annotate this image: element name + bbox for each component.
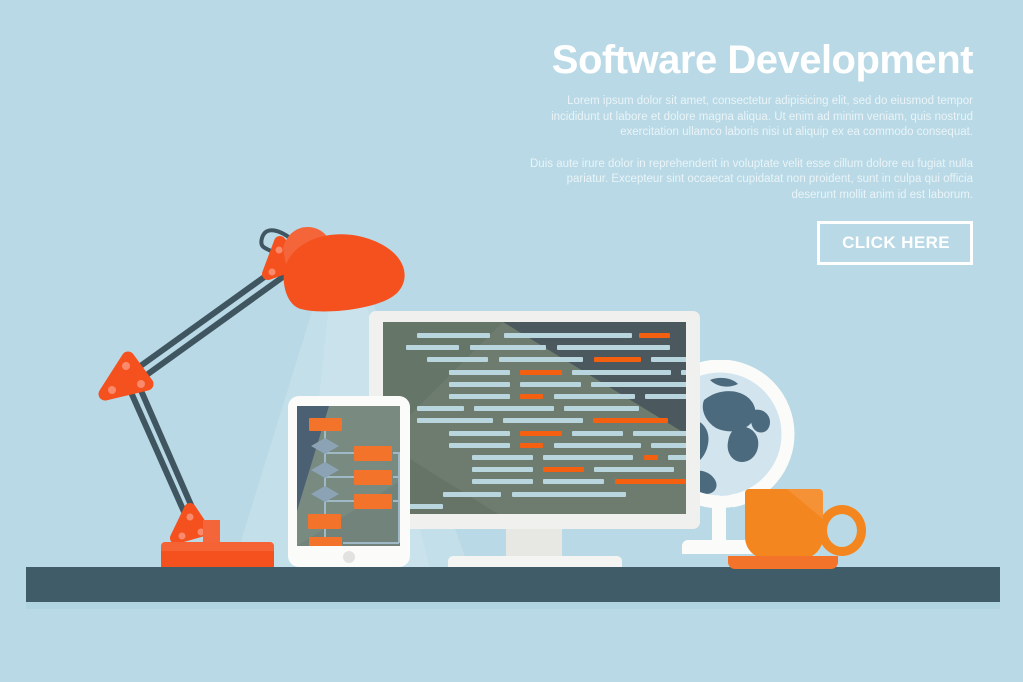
monitor-screen-code-editor[interactable] xyxy=(383,322,686,514)
intro-paragraph-1: Lorem ipsum dolor sit amet, consectetur … xyxy=(523,94,973,141)
lamp-base xyxy=(161,542,274,567)
code-line-segment xyxy=(504,333,632,338)
code-line-segment xyxy=(449,443,510,448)
page-title: Software Development xyxy=(523,40,973,80)
code-line-segment xyxy=(427,357,488,362)
tablet-home-button[interactable] xyxy=(343,551,355,563)
code-line-segment xyxy=(593,418,668,423)
code-line-segment xyxy=(449,370,510,375)
code-line-segment xyxy=(572,431,623,436)
code-line-segment xyxy=(470,345,547,350)
cup-saucer xyxy=(728,556,838,569)
code-line-segment xyxy=(499,357,583,362)
code-line-segment xyxy=(554,443,641,448)
code-line-segment xyxy=(520,443,543,448)
code-line-segment xyxy=(543,467,584,472)
lamp-base-joint xyxy=(176,509,205,540)
cup-handle xyxy=(818,505,866,556)
flowchart-connector xyxy=(326,500,354,502)
tablet-screen-flowchart[interactable] xyxy=(297,406,400,546)
flowchart-process-box xyxy=(354,494,392,509)
code-line-segment xyxy=(543,455,633,460)
code-line-segment xyxy=(615,479,687,484)
code-line-segment xyxy=(644,455,659,460)
flowchart-process-box xyxy=(309,418,342,431)
flowchart-connector xyxy=(398,452,400,543)
code-line-segment xyxy=(472,467,533,472)
code-line-segment xyxy=(633,431,686,436)
code-line-segment xyxy=(572,370,671,375)
code-line-segment xyxy=(681,370,686,375)
code-line-segment xyxy=(557,345,670,350)
code-line-segment xyxy=(417,406,463,411)
code-line-segment xyxy=(564,406,639,411)
lamp-lower-arm xyxy=(126,379,198,523)
code-line-segment xyxy=(472,479,533,484)
code-line-segment xyxy=(668,455,686,460)
code-line-segment xyxy=(639,333,669,338)
code-line-segment xyxy=(449,431,510,436)
flowchart-process-box xyxy=(308,514,341,529)
illustration-canvas: Software Development Lorem ipsum dolor s… xyxy=(0,0,1023,682)
flowchart-connector xyxy=(324,529,326,537)
code-line-segment xyxy=(591,382,686,387)
monitor-foot xyxy=(448,556,622,567)
lamp-head-joint xyxy=(268,242,296,276)
lamp-upper-arm xyxy=(128,265,287,384)
flowchart-process-box xyxy=(309,537,342,546)
flowchart-connector xyxy=(324,501,326,514)
click-here-button[interactable]: CLICK HERE xyxy=(817,221,973,265)
header-text-block: Software Development Lorem ipsum dolor s… xyxy=(523,40,973,265)
code-line-segment xyxy=(449,382,510,387)
code-line-segment xyxy=(443,492,501,497)
code-line-segment xyxy=(472,455,533,460)
desk-surface xyxy=(26,567,1000,602)
lamp-shade-back xyxy=(283,227,332,288)
coffee-cup xyxy=(745,489,823,559)
code-line-segment xyxy=(651,443,686,448)
code-line-segment xyxy=(543,479,604,484)
code-line-segment xyxy=(645,394,686,399)
code-line-segment xyxy=(594,467,674,472)
code-line-segment xyxy=(474,406,554,411)
code-line-segment xyxy=(520,431,562,436)
lamp-middle-joint xyxy=(105,358,147,394)
flowchart-connector xyxy=(343,542,399,544)
code-line-segment xyxy=(520,382,581,387)
lamp-cord xyxy=(261,230,290,262)
code-line-segment xyxy=(520,394,543,399)
desk-shadow xyxy=(26,602,1000,609)
code-line-segment xyxy=(520,370,562,375)
lamp-shade xyxy=(284,234,405,311)
code-line-segment xyxy=(594,357,640,362)
code-line-segment xyxy=(449,394,510,399)
code-line-segment xyxy=(503,418,583,423)
code-line-segment xyxy=(406,345,460,350)
intro-paragraph-2: Duis aute irure dolor in reprehenderit i… xyxy=(523,157,973,204)
flowchart-process-box xyxy=(354,446,392,461)
flowchart-connector xyxy=(326,476,354,478)
code-line-segment xyxy=(651,357,686,362)
code-line-segment xyxy=(554,394,635,399)
code-line-segment xyxy=(512,492,627,497)
lamp-bulb xyxy=(327,274,363,310)
flowchart-connector xyxy=(326,452,354,454)
code-line-segment xyxy=(417,418,492,423)
flowchart-process-box xyxy=(354,470,392,485)
code-line-segment xyxy=(417,333,490,338)
